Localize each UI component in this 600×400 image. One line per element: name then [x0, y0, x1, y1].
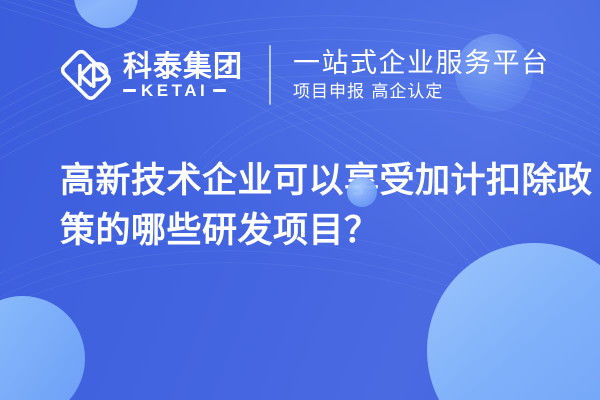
header-divider	[269, 45, 271, 105]
logo-chinese-name: 科泰集团	[123, 51, 243, 81]
header-tagline: 一站式企业服务平台 项目申报 高企认定	[293, 49, 550, 102]
promo-banner: 科泰集团 KETAI 一站式企业服务平台 项目申报 高企认定 高新技术企业可以享…	[0, 0, 600, 400]
logo-latin-name: KETAI	[141, 82, 208, 100]
logo-wordmark: 科泰集团 KETAI	[123, 51, 243, 100]
banner-header: 科泰集团 KETAI 一站式企业服务平台 项目申报 高企认定	[0, 38, 600, 112]
logo-rule-left-icon	[123, 89, 136, 92]
page-title: 高新技术企业可以享受加计扣除政 策的哪些研发项目？	[60, 156, 560, 256]
page-title-line-2: 策的哪些研发项目？	[60, 206, 560, 256]
logo-rule-right-icon	[213, 89, 226, 92]
logo-latin-name-row: KETAI	[123, 82, 243, 100]
tagline-sub-text: 项目申报 高企认定	[293, 82, 550, 102]
company-logo[interactable]: 科泰集团 KETAI	[60, 49, 243, 101]
tagline-main-text: 一站式企业服务平台	[293, 49, 550, 79]
ketai-diamond-monogram-icon	[60, 49, 112, 101]
page-title-line-1: 高新技术企业可以享受加计扣除政	[60, 156, 560, 206]
